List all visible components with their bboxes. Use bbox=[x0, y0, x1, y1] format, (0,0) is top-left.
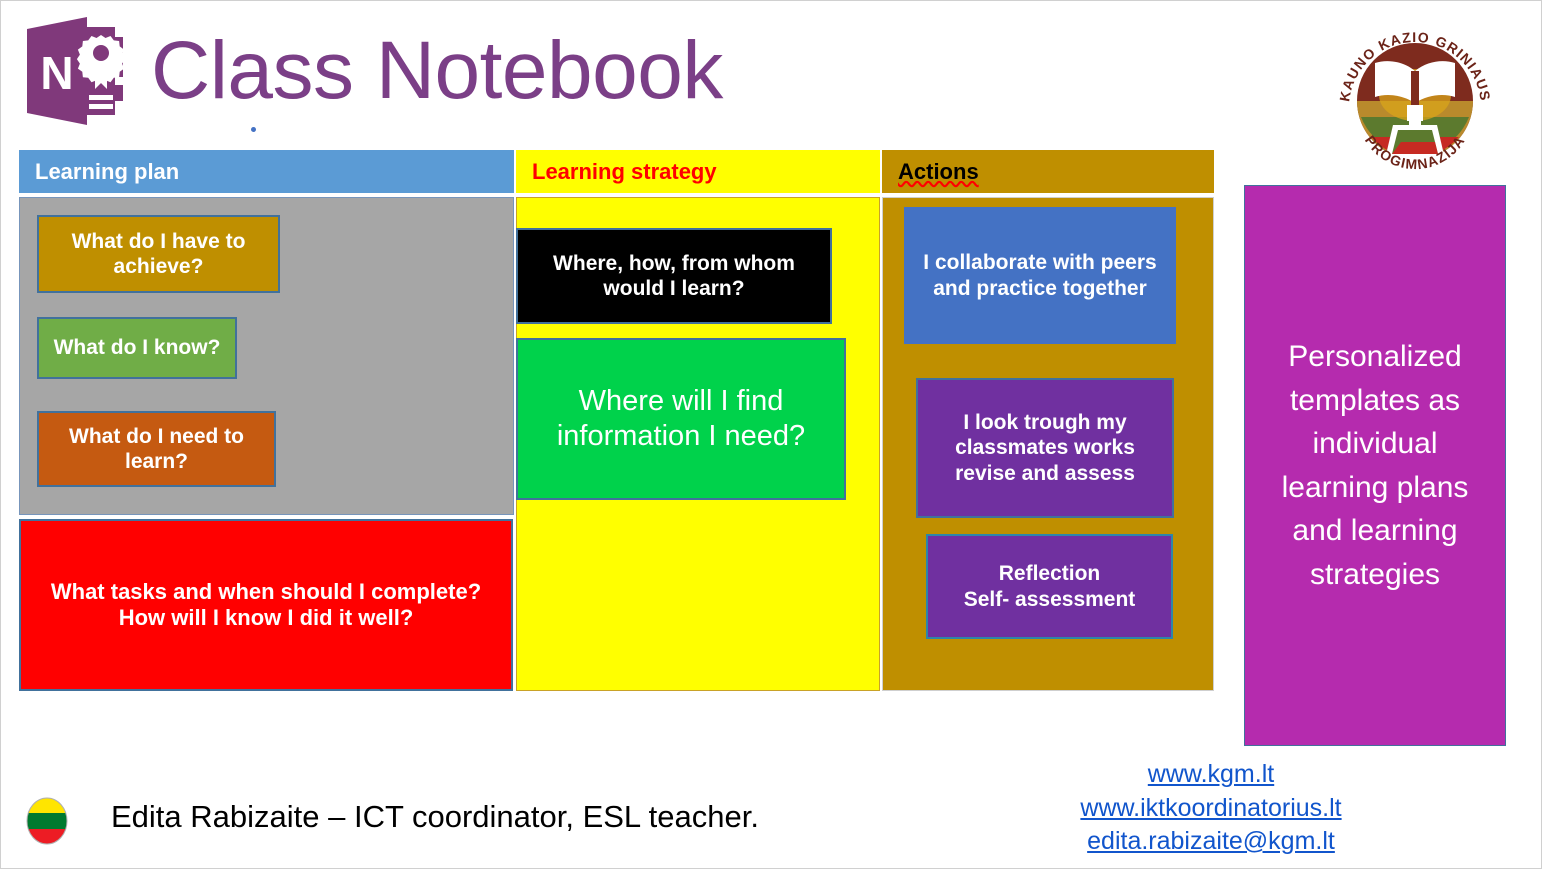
svg-text:N: N bbox=[40, 47, 73, 99]
link-kgm-website[interactable]: www.kgm.lt bbox=[1021, 758, 1401, 792]
card-label: Where will I find information I need? bbox=[532, 384, 830, 454]
card-reflection-self-assessment[interactable]: Reflection Self- assessment bbox=[926, 534, 1173, 639]
column-header-actions: Actions bbox=[882, 150, 1214, 193]
lithuania-flag-icon bbox=[25, 797, 69, 845]
card-what-do-i-know[interactable]: What do I know? bbox=[37, 317, 237, 379]
card-i-collaborate-with-peers[interactable]: I collaborate with peers and practice to… bbox=[904, 207, 1176, 344]
card-label: What do I need to learn? bbox=[39, 424, 274, 474]
column-header-learning-strategy: Learning strategy bbox=[516, 150, 880, 193]
onenote-class-notebook-icon: N bbox=[25, 15, 133, 127]
school-crest-icon: KAUNO KAZIO GRINIAUS PROGIMNAZIJA bbox=[1331, 13, 1499, 179]
title-decor-dot bbox=[251, 127, 256, 132]
card-label: Where, how, from whom would I learn? bbox=[528, 251, 820, 301]
page-title: Class Notebook bbox=[151, 30, 723, 112]
column-header-label: Learning strategy bbox=[532, 159, 717, 185]
link-email[interactable]: edita.rabizaite@kgm.lt bbox=[1021, 825, 1401, 859]
card-label: What tasks and when should I complete? H… bbox=[37, 579, 495, 632]
card-what-do-i-have-to-achieve[interactable]: What do I have to achieve? bbox=[37, 215, 280, 293]
card-what-tasks-and-when[interactable]: What tasks and when should I complete? H… bbox=[19, 519, 513, 691]
card-label: Reflection Self- assessment bbox=[964, 561, 1136, 611]
card-label: What do I have to achieve? bbox=[39, 229, 278, 279]
author-credit: Edita Rabizaite – ICT coordinator, ESL t… bbox=[111, 799, 759, 835]
slide-canvas: N Class Notebook KAUNO KAZIO GRINIAUS bbox=[0, 0, 1542, 869]
column-header-label: Actions bbox=[898, 159, 979, 185]
column-header-label: Learning plan bbox=[35, 159, 179, 185]
callout-personalized-templates: Personalized templates as individual lea… bbox=[1244, 185, 1506, 746]
card-what-do-i-need-to-learn[interactable]: What do I need to learn? bbox=[37, 411, 276, 487]
callout-label: Personalized templates as individual lea… bbox=[1259, 335, 1491, 596]
page-header: N Class Notebook bbox=[25, 15, 723, 127]
card-i-look-trough-classmates-works[interactable]: I look trough my classmates works revise… bbox=[916, 378, 1174, 518]
column-header-learning-plan: Learning plan bbox=[19, 150, 514, 193]
card-where-how-from-whom[interactable]: Where, how, from whom would I learn? bbox=[516, 228, 832, 324]
card-label: I collaborate with peers and practice to… bbox=[914, 250, 1166, 300]
card-label: What do I know? bbox=[54, 335, 221, 360]
card-where-will-i-find-information[interactable]: Where will I find information I need? bbox=[516, 338, 846, 500]
footer-links: www.kgm.lt www.iktkoordinatorius.lt edit… bbox=[1021, 758, 1401, 859]
link-iktkoordinatorius-website[interactable]: www.iktkoordinatorius.lt bbox=[1021, 792, 1401, 826]
card-label: I look trough my classmates works revise… bbox=[928, 410, 1162, 486]
